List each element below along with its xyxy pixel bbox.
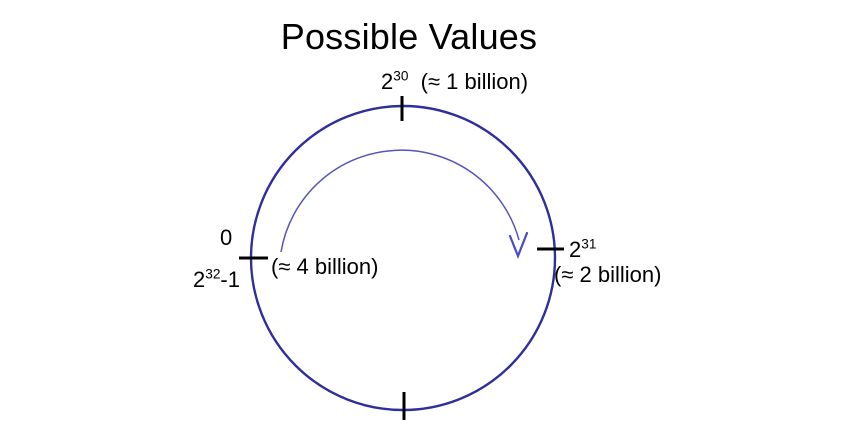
label-zero: 0 xyxy=(220,226,232,249)
label-top-approx: (≈ 1 billion) xyxy=(421,69,528,94)
label-two-pow-31: 231 xyxy=(569,238,596,261)
label-approx-two-billion: (≈ 2 billion) xyxy=(554,263,661,286)
label-left-max-base: 2 xyxy=(193,267,205,292)
label-approx-four-billion: (≈ 4 billion) xyxy=(271,255,378,278)
label-top-base: 2 xyxy=(381,69,393,94)
label-right-exponent: 31 xyxy=(581,237,596,252)
number-wheel-diagram xyxy=(0,0,850,437)
slide-canvas: Possible Values 230 (≈ 1 billion) 231 (≈… xyxy=(0,0,850,437)
clockwise-arrow-arc xyxy=(281,150,519,252)
label-two-pow-30: 230 (≈ 1 billion) xyxy=(381,70,528,93)
label-left-max-exponent: 32 xyxy=(205,267,220,282)
label-two-pow-32-minus-1: 232-1 xyxy=(193,268,240,291)
label-left-max-suffix: -1 xyxy=(220,267,240,292)
label-right-base: 2 xyxy=(569,237,581,262)
label-top-spacer xyxy=(408,69,420,94)
label-top-exponent: 30 xyxy=(393,69,408,84)
